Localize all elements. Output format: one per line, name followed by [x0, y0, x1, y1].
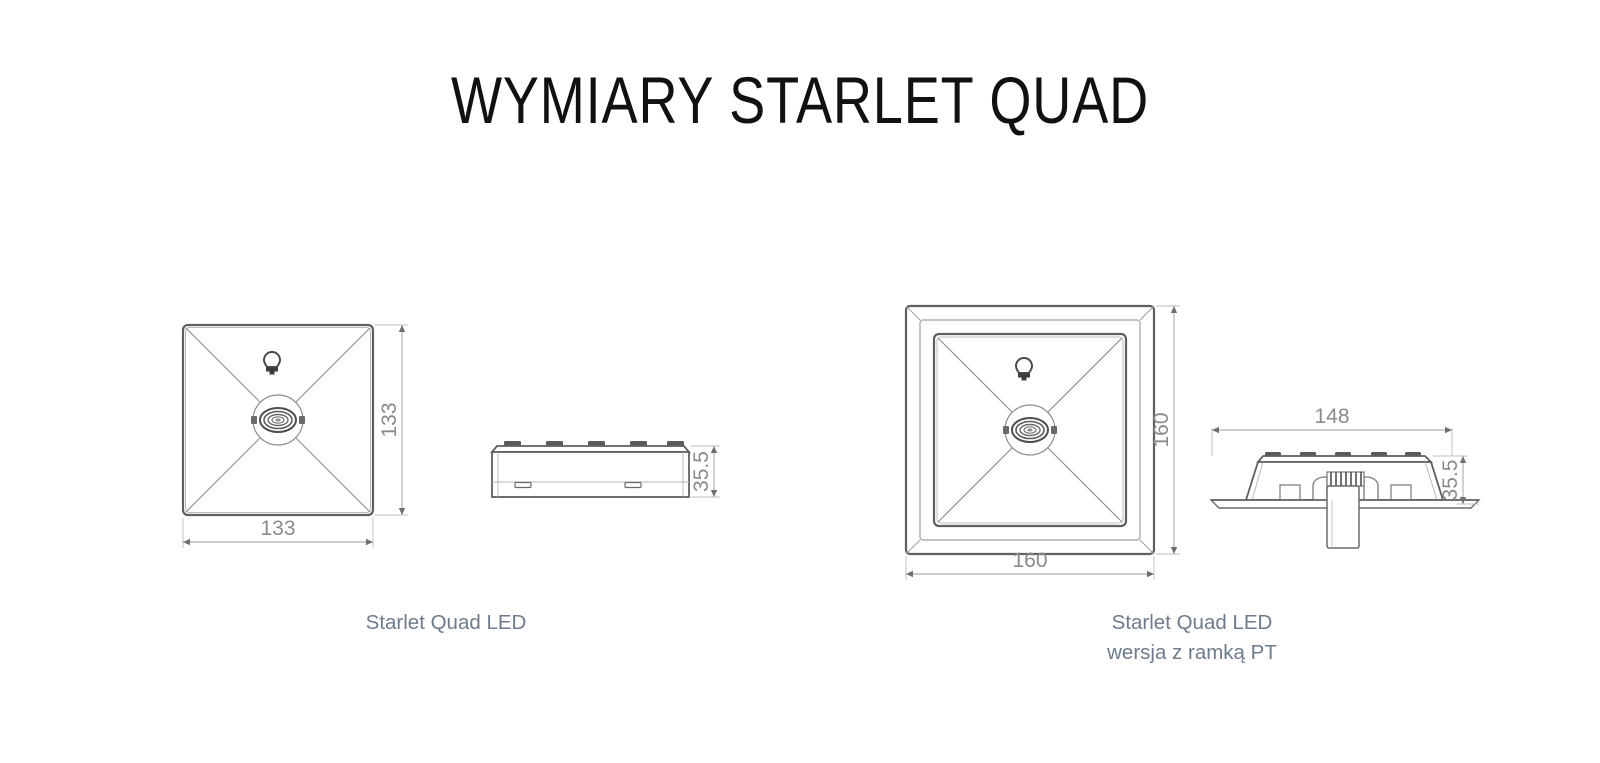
right-side-compartment-left	[1280, 485, 1300, 500]
bulb-icon	[1016, 358, 1032, 381]
right-side-width-dimension-text: 148	[1314, 405, 1349, 428]
left-side-notch-2	[625, 483, 641, 488]
right-side-shoulder-left	[1313, 477, 1327, 500]
left-side-view-drawing: 35.5	[470, 425, 730, 555]
right-top-view-drawing: 160 160	[880, 290, 1210, 590]
right-side-shoulder-right	[1364, 477, 1378, 500]
left-width-dimension: 133	[183, 517, 373, 548]
left-side-height-dimension-text: 35.5	[690, 451, 713, 492]
right-side-height-dimension-text: 35.5	[1439, 460, 1462, 501]
caption-right-line1: Starlet Quad LED	[1032, 608, 1352, 638]
caption-left: Starlet Quad LED	[286, 608, 606, 638]
left-width-dimension-text: 133	[260, 517, 295, 540]
right-width-dimension-text: 160	[1012, 549, 1047, 572]
left-height-dimension: 133	[375, 325, 408, 515]
page-title: WYMIARY STARLET QUAD	[144, 62, 1456, 138]
right-side-height-dimension: 35.5	[1433, 456, 1479, 504]
right-side-width-dimension: 148	[1212, 405, 1452, 456]
caption-left-text: Starlet Quad LED	[366, 611, 527, 634]
spring-coil	[1327, 472, 1364, 486]
right-height-dimension-text: 160	[1150, 412, 1173, 447]
left-side-height-dimension: 35.5	[690, 446, 720, 497]
caption-right: Starlet Quad LED wersja z ramką PT	[1032, 608, 1352, 668]
left-side-housing	[492, 452, 689, 497]
left-height-dimension-text: 133	[378, 402, 401, 437]
right-side-view-drawing: 148 35.5	[1195, 390, 1495, 570]
right-side-compartment-right	[1391, 485, 1411, 500]
caption-right-line2: wersja z ramką PT	[1032, 638, 1352, 668]
left-side-notch-1	[515, 483, 531, 488]
bulb-icon	[264, 352, 280, 375]
